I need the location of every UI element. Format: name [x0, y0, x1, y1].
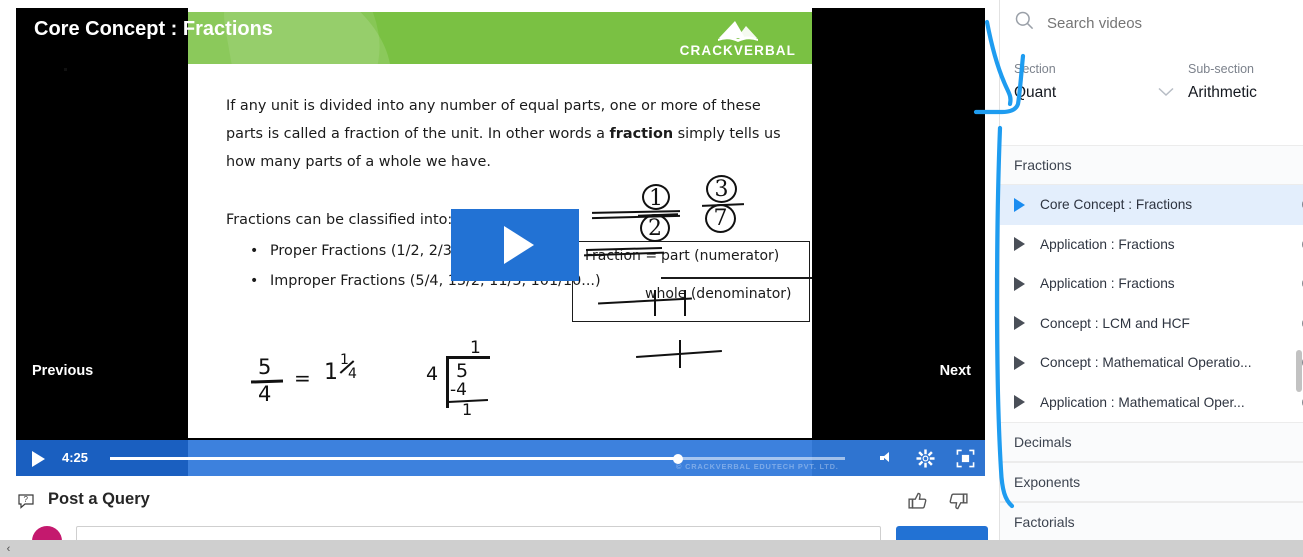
- thumbs-up-icon[interactable]: [907, 490, 929, 512]
- group-header-label: Fractions: [1014, 157, 1072, 173]
- paragraph-bold-word: fraction: [610, 126, 674, 142]
- previous-button[interactable]: Previous: [32, 363, 93, 379]
- slide-title-prefix: Core Concept :: [34, 18, 183, 40]
- handdrawn-tick-3: [679, 340, 681, 368]
- svg-text:?: ?: [24, 495, 29, 504]
- fraction-box-numerator: part (numerator): [661, 248, 779, 264]
- subsection-filter[interactable]: Sub-section Arithmetic: [1188, 62, 1303, 102]
- fullscreen-icon[interactable]: [956, 449, 975, 473]
- group-header-label: Decimals: [1014, 434, 1072, 450]
- post-a-query-title: Post a Query: [48, 490, 150, 509]
- handwritten-equals: =: [294, 366, 311, 390]
- crackverbal-mark-icon: [680, 18, 796, 42]
- handdrawn-tick-2: [684, 290, 686, 316]
- current-time-label: 4:25: [62, 450, 88, 465]
- video-row-application-math-operations[interactable]: Application : Mathematical Oper... 0: [1000, 383, 1303, 423]
- circled-denominator-2: 7: [705, 206, 736, 231]
- group-header-label: Exponents: [1014, 474, 1080, 490]
- query-bubble-icon: ?: [17, 492, 37, 517]
- search-input[interactable]: [1047, 15, 1247, 32]
- volume-icon[interactable]: [878, 451, 894, 470]
- thumbs-down-icon[interactable]: [947, 490, 969, 512]
- horizontal-scrollbar[interactable]: ‹: [0, 540, 1303, 557]
- search-icon: [1014, 10, 1035, 36]
- slide-banner: CRACKVERBAL: [188, 12, 812, 64]
- video-title: Application : Fractions: [1040, 237, 1175, 252]
- video-title: Core Concept : Fractions: [1040, 197, 1192, 212]
- play-icon: [1014, 356, 1025, 370]
- handwritten-4: 4: [258, 382, 271, 406]
- circled-denominator-1: 2: [640, 216, 670, 241]
- video-lesson-page: CRACKVERBAL If any unit is divided into …: [0, 0, 1303, 557]
- video-title: Concept : Mathematical Operatio...: [1040, 355, 1252, 370]
- gear-icon[interactable]: [916, 449, 935, 473]
- video-row-concept-math-operations[interactable]: Concept : Mathematical Operatio... 0: [1000, 343, 1303, 383]
- slide-title-main: Fractions: [183, 18, 273, 40]
- scroll-left-arrow[interactable]: ‹: [0, 540, 17, 557]
- scroll-track[interactable]: [17, 540, 1303, 557]
- group-header-fractions[interactable]: Fractions: [1000, 145, 1303, 185]
- video-controls-bar: 4:25 © CRACKVERBAL EDUTECH PVT. LTD.: [16, 440, 985, 476]
- handwritten-quarter-denominator: 4: [348, 366, 357, 382]
- slide-title: Core Concept : Fractions: [34, 18, 273, 41]
- division-dividend: 5: [456, 360, 468, 382]
- slide-paragraph: If any unit is divided into any number o…: [226, 92, 796, 176]
- crackverbal-wordmark: CRACKVERBAL: [680, 43, 796, 58]
- group-header-decimals[interactable]: Decimals: [1000, 422, 1303, 462]
- subsection-filter-label: Sub-section: [1188, 62, 1303, 76]
- circled-numerator-1: 1: [642, 186, 670, 211]
- division-remainder: 1: [462, 400, 472, 419]
- crackverbal-logo: CRACKVERBAL: [680, 18, 796, 58]
- play-icon: [1014, 277, 1025, 291]
- play-pause-button[interactable]: [32, 451, 45, 467]
- section-filter-value: Quant: [1014, 84, 1056, 102]
- play-overlay-button[interactable]: [451, 209, 579, 281]
- seek-bar[interactable]: [110, 457, 845, 460]
- feedback-buttons: [907, 490, 969, 512]
- handdrawn-dot: [64, 68, 67, 71]
- video-row-application-fractions-2[interactable]: Application : Fractions 0: [1000, 264, 1303, 304]
- next-button[interactable]: Next: [940, 363, 971, 379]
- filter-row: Section Quant Sub-section Arithmetic: [1014, 62, 1303, 102]
- seek-progress: [110, 457, 678, 460]
- video-row-core-concept-fractions[interactable]: Core Concept : Fractions 0: [1000, 185, 1303, 225]
- video-title: Concept : LCM and HCF: [1040, 316, 1190, 331]
- division-quotient: 1: [470, 338, 481, 358]
- circled-numerator-2: 3: [706, 177, 737, 202]
- sidebar-vertical-scrollbar[interactable]: [1296, 350, 1302, 392]
- handwritten-whole-1: 1: [324, 360, 338, 385]
- video-list: Fractions Core Concept : Fractions 0 App…: [1000, 145, 1303, 542]
- handdrawn-tick-1: [654, 290, 656, 316]
- main-content-column: CRACKVERBAL If any unit is divided into …: [0, 0, 1000, 557]
- search-row: [1014, 10, 1247, 36]
- video-title: Application : Fractions: [1040, 276, 1175, 291]
- play-icon: [1014, 316, 1025, 330]
- video-row-application-fractions-1[interactable]: Application : Fractions 0: [1000, 225, 1303, 265]
- division-bracket-horizontal: [446, 356, 490, 359]
- division-subtrahend: -4: [450, 380, 467, 400]
- video-sidebar: Section Quant Sub-section Arithmetic Fra…: [1000, 0, 1303, 545]
- play-icon: [1014, 395, 1025, 409]
- video-player[interactable]: CRACKVERBAL If any unit is divided into …: [16, 8, 985, 476]
- handwritten-5: 5: [258, 355, 271, 379]
- subsection-filter-value: Arithmetic: [1188, 84, 1257, 102]
- group-header-label: Factorials: [1014, 514, 1075, 530]
- copyright-watermark: © CRACKVERBAL EDUTECH PVT. LTD.: [676, 462, 839, 471]
- video-title: Application : Mathematical Oper...: [1040, 395, 1245, 410]
- play-icon: [504, 226, 534, 264]
- video-row-concept-lcm-hcf[interactable]: Concept : LCM and HCF 0: [1000, 304, 1303, 344]
- group-header-factorials[interactable]: Factorials: [1000, 502, 1303, 542]
- play-icon: [1014, 198, 1025, 212]
- section-filter-label: Section: [1014, 62, 1188, 76]
- play-icon: [1014, 237, 1025, 251]
- division-divisor: 4: [426, 363, 438, 385]
- chevron-down-icon[interactable]: [1158, 84, 1174, 102]
- fraction-box-divider: [661, 277, 812, 279]
- classification-heading: Fractions can be classified into:: [226, 212, 452, 228]
- group-header-exponents[interactable]: Exponents: [1000, 462, 1303, 502]
- section-filter[interactable]: Section Quant: [1014, 62, 1188, 102]
